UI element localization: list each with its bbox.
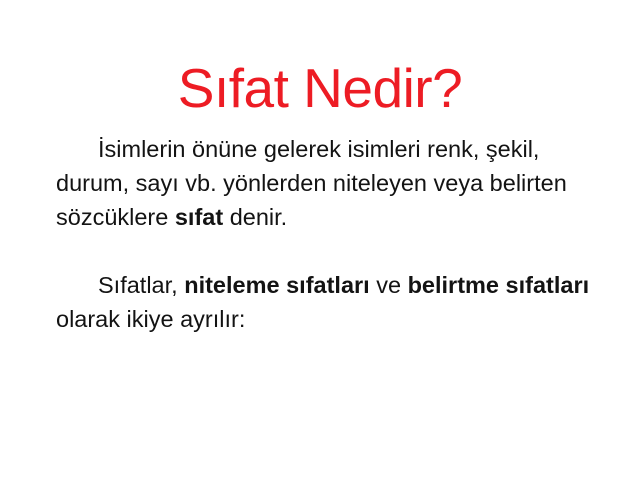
paragraph-definition: İsimlerin önüne gelerek isimleri renk, ş… (56, 132, 616, 234)
text-run: olarak ikiye ayrılır: (56, 306, 245, 332)
text-run: İsimlerin önüne gelerek isimleri renk, ş… (56, 136, 567, 230)
text-run: ve (370, 272, 408, 298)
text-run: Sıfatlar, (98, 272, 184, 298)
presentation-slide: Sıfat Nedir? İsimlerin önüne gelerek isi… (0, 0, 640, 480)
page-title: Sıfat Nedir? (0, 55, 640, 121)
text-run-bold: sıfat (175, 204, 223, 230)
text-run-bold: niteleme sıfatları (184, 272, 369, 298)
text-run-bold: belirtme sıfatları (408, 272, 590, 298)
paragraph-classification: Sıfatlar, niteleme sıfatları ve belirtme… (56, 268, 616, 336)
text-run: denir. (223, 204, 287, 230)
slide-body-text: İsimlerin önüne gelerek isimleri renk, ş… (56, 132, 616, 336)
